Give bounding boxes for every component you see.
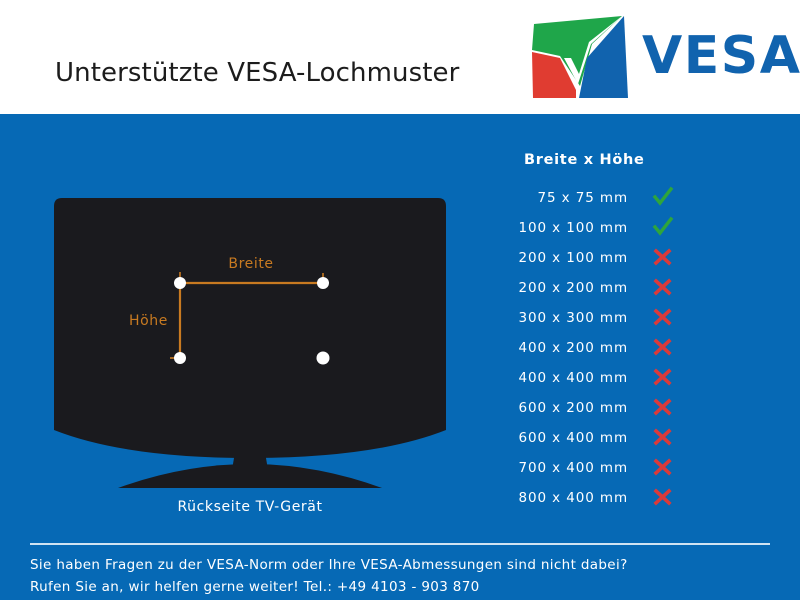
check-icon	[652, 185, 674, 209]
check-icon	[652, 215, 674, 239]
tv-diagram-caption: Rückseite TV-Gerät	[40, 499, 460, 515]
cross-icon	[652, 335, 674, 359]
vesa-logo: VESA	[530, 14, 790, 102]
table-row: 400 x 400 mm	[500, 365, 730, 395]
footer-line-2: Rufen Sie an, wir helfen gerne weiter! T…	[30, 576, 780, 598]
footer-line-1: Sie haben Fragen zu der VESA-Norm oder I…	[30, 554, 780, 576]
vesa-checkmark-logo-icon	[530, 14, 630, 100]
table-row: 200 x 200 mm	[500, 275, 730, 305]
table-row: 700 x 400 mm	[500, 455, 730, 485]
vesa-size-label: 300 x 300 mm	[500, 310, 628, 326]
table-row: 600 x 400 mm	[500, 425, 730, 455]
vesa-size-label: 200 x 100 mm	[500, 250, 628, 266]
cross-icon	[652, 485, 674, 509]
cross-icon	[652, 305, 674, 329]
table-row: 100 x 100 mm	[500, 215, 730, 245]
vesa-size-label: 200 x 200 mm	[500, 280, 628, 296]
height-label: Höhe	[129, 313, 168, 329]
footer-divider	[30, 543, 770, 545]
table-row: 800 x 400 mm	[500, 485, 730, 515]
table-row: 400 x 200 mm	[500, 335, 730, 365]
vesa-info-graphic: Unterstützte VESA-Lochmuster VESA	[0, 0, 800, 600]
width-label: Breite	[228, 256, 273, 272]
tv-back-diagram: Breite Höhe	[40, 188, 460, 498]
cross-icon	[652, 275, 674, 299]
vesa-size-label: 700 x 400 mm	[500, 460, 628, 476]
cross-icon	[652, 395, 674, 419]
header-bar: Unterstützte VESA-Lochmuster VESA	[0, 0, 800, 114]
vesa-size-label: 600 x 400 mm	[500, 430, 628, 446]
table-row: 600 x 200 mm	[500, 395, 730, 425]
page-title: Unterstützte VESA-Lochmuster	[55, 58, 459, 88]
vesa-wordmark: VESA	[642, 30, 800, 82]
hole-dot-bottom-left	[174, 352, 186, 364]
vesa-size-label: 75 x 75 mm	[500, 190, 628, 206]
vesa-size-label: 400 x 200 mm	[500, 340, 628, 356]
hole-dot-top-left	[174, 277, 186, 289]
main-blue-panel: Breite Höhe Rückseite TV-Gerät Breite x …	[0, 114, 800, 600]
cross-icon	[652, 425, 674, 449]
vesa-size-label: 400 x 400 mm	[500, 370, 628, 386]
table-row: 75 x 75 mm	[500, 185, 730, 215]
tv-panel-shape	[54, 198, 446, 458]
cross-icon	[652, 245, 674, 269]
hole-dot-bottom-right	[317, 352, 330, 365]
table-row: 200 x 100 mm	[500, 245, 730, 275]
table-column-header: Breite x Höhe	[524, 152, 645, 168]
tv-stand-base	[118, 464, 382, 488]
cross-icon	[652, 365, 674, 389]
footer-contact-text: Sie haben Fragen zu der VESA-Norm oder I…	[30, 554, 780, 598]
hole-dot-top-right	[317, 277, 329, 289]
vesa-size-label: 600 x 200 mm	[500, 400, 628, 416]
vesa-size-label: 100 x 100 mm	[500, 220, 628, 236]
table-rows-container: 75 x 75 mm100 x 100 mm200 x 100 mm200 x …	[500, 185, 730, 515]
vesa-size-label: 800 x 400 mm	[500, 490, 628, 506]
table-row: 300 x 300 mm	[500, 305, 730, 335]
cross-icon	[652, 455, 674, 479]
